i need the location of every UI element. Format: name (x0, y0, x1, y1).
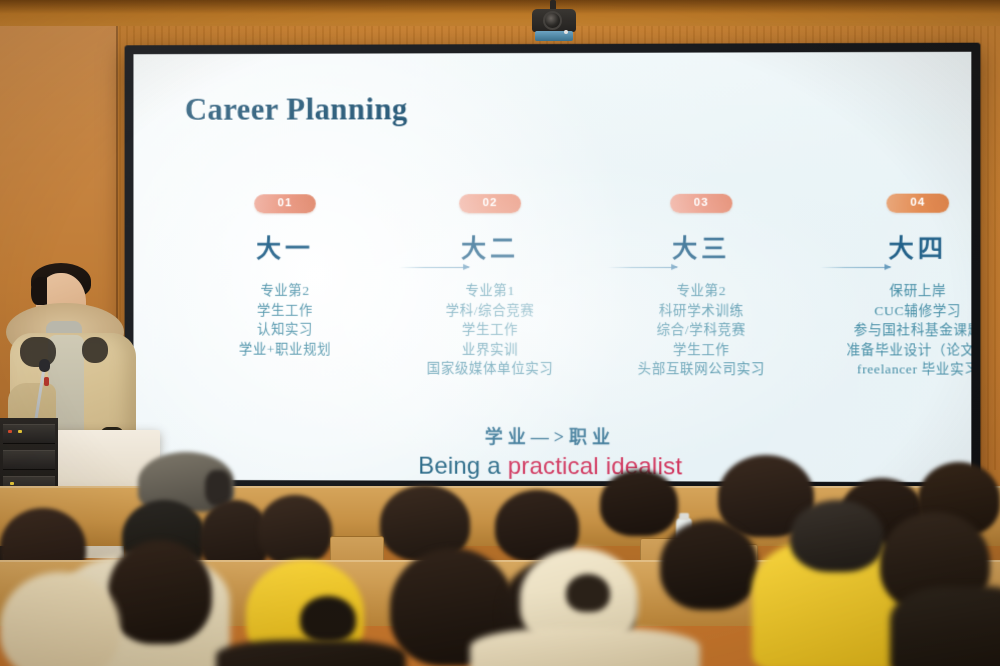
list-item: 专业第2 (583, 281, 820, 301)
lecture-hall-scene: Career Planning 01 大一 专业第2 学生工作 认知实习 学业+… (0, 0, 1000, 666)
page-title: Career Planning (185, 91, 408, 127)
rack-led (10, 482, 14, 485)
list-item: 专业第1 (375, 281, 605, 301)
list-item: CUC辅修学习 (792, 301, 972, 321)
camera-led (564, 30, 568, 34)
list-item: 综合/学科竞赛 (583, 320, 820, 340)
tagline-chinese: 学业—>职业 (133, 422, 971, 450)
column-items: 专业第2 学生工作 认知实习 学业+职业规划 (171, 281, 399, 359)
dark-hair-attendee (660, 520, 758, 610)
attendee-shoulders (216, 640, 406, 666)
attendee-head (600, 470, 678, 536)
timeline-column-4: 04 大四 保研上岸 CUC辅修学习 参与国社科基金课题 准备毕业设计（论文） … (792, 192, 972, 379)
list-item: 学生工作 (375, 320, 605, 340)
list-item: 参与国社科基金课题 (792, 320, 972, 340)
ceiling-shadow (0, 0, 1000, 14)
column-heading: 大二 (375, 229, 605, 265)
rack-led (8, 430, 12, 433)
column-items: 专业第1 学科/综合竞赛 学生工作 业界实训 国家级媒体单位实习 (375, 281, 605, 379)
status-badge: 02 (459, 194, 521, 213)
list-item: freelancer 毕业实习 (792, 359, 972, 379)
status-badge: 01 (254, 194, 316, 213)
screen-display-area: Career Planning 01 大一 专业第2 学生工作 认知实习 学业+… (133, 52, 971, 482)
parka-shoulder-patch-left (20, 337, 56, 367)
rack-unit (3, 450, 55, 470)
list-item: 学业+职业规划 (171, 339, 399, 359)
cap-opening (300, 596, 356, 642)
ceiling-ptz-camera-icon (528, 0, 580, 46)
rack-led (18, 430, 22, 433)
list-item: 保研上岸 (792, 281, 972, 301)
list-item: 学科/综合竞赛 (375, 300, 605, 320)
attendee-shoulders (470, 628, 700, 666)
list-item: 认知实习 (171, 320, 399, 340)
attendee-head (790, 500, 884, 572)
hat-shadow (566, 574, 610, 612)
projection-screen: Career Planning 01 大一 专业第2 学生工作 认知实习 学业+… (125, 43, 981, 494)
bottle-cap (679, 513, 689, 520)
list-item: 学生工作 (171, 300, 399, 320)
list-item: 学生工作 (583, 340, 820, 360)
rack-unit (3, 424, 55, 444)
timeline-column-1: 01 大一 专业第2 学生工作 认知实习 学业+职业规划 (171, 193, 399, 359)
list-item: 国家级媒体单位实习 (375, 359, 605, 379)
list-item: 专业第2 (171, 281, 399, 301)
list-item: 准备毕业设计（论文） (792, 340, 972, 360)
microphone-icon (39, 359, 50, 372)
presenter-hair-side (31, 277, 47, 305)
timeline-column-3: 03 大三 专业第2 科研学术训练 综合/学科竞赛 学生工作 头部互联网公司实习 (583, 193, 820, 379)
parka-shoulder-patch-right (82, 337, 108, 363)
timeline-column-2: 02 大二 专业第1 学科/综合竞赛 学生工作 业界实训 国家级媒体单位实习 (375, 193, 605, 379)
timeline-columns: 01 大一 专业第2 学生工作 认知实习 学业+职业规划 02 大二 (133, 193, 971, 414)
column-items: 专业第2 科研学术训练 综合/学科竞赛 学生工作 头部互联网公司实习 (583, 281, 820, 379)
camera-lens (543, 11, 562, 30)
column-items: 保研上岸 CUC辅修学习 参与国社科基金课题 准备毕业设计（论文） freela… (792, 281, 972, 379)
microphone-indicator (44, 377, 49, 386)
tagline-prefix: Being a (418, 453, 507, 480)
column-heading: 大三 (583, 229, 820, 265)
status-badge: 04 (886, 194, 949, 213)
column-heading: 大四 (792, 229, 972, 265)
presentation-slide: Career Planning 01 大一 专业第2 学生工作 认知实习 学业+… (133, 52, 971, 482)
attendee-head (258, 495, 332, 565)
list-item: 业界实训 (375, 339, 605, 359)
list-item: 科研学术训练 (583, 301, 820, 321)
list-item: 头部互联网公司实习 (583, 359, 820, 379)
attendee-shoulders (890, 586, 1000, 666)
dark-hair-attendee (108, 540, 212, 644)
column-heading: 大一 (171, 229, 399, 265)
tagline-english: Being a practical idealist (133, 452, 971, 482)
status-badge: 03 (670, 194, 732, 213)
